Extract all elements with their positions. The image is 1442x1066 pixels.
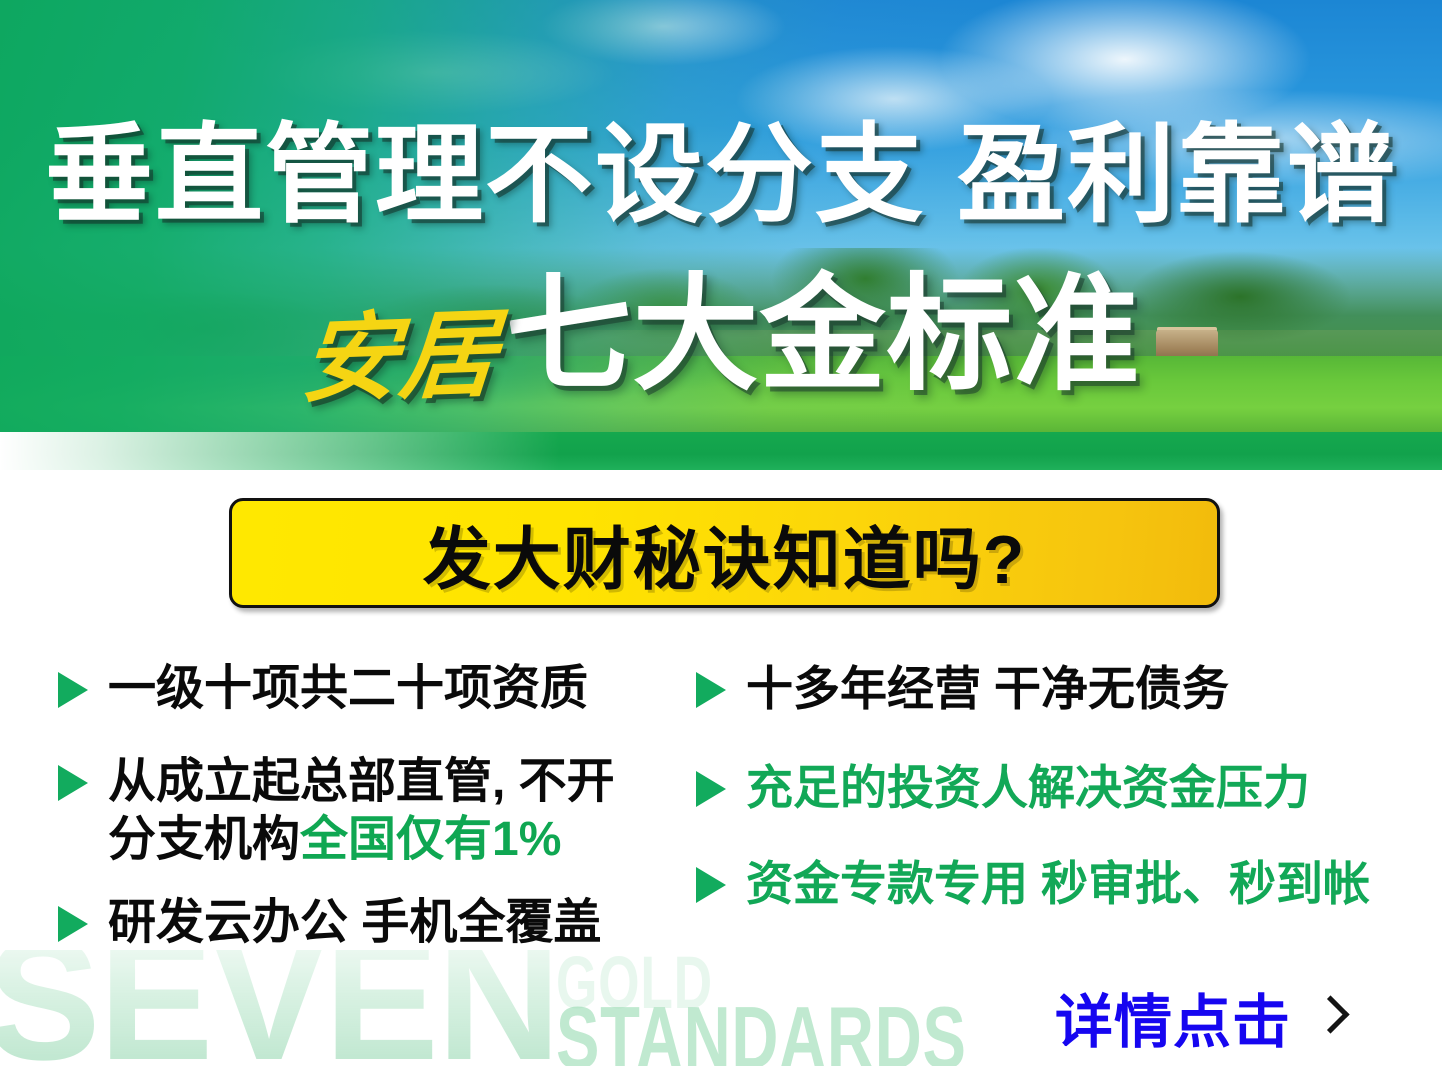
advertisement-banner: 垂直管理不设分支 盈利靠谱 安居七大金标准 发大财秘诀知道吗? 一级十项共二十项… — [0, 0, 1442, 1066]
feature-text-right-1: 十多年经营 干净无债务 — [746, 660, 1229, 717]
watermark-standards: STANDARDS — [556, 994, 967, 1066]
feature-item-left-3: 研发云办公 手机全覆盖 — [58, 894, 698, 953]
feature-text-left-2-line2: 分支机构全国仅有1% — [108, 811, 615, 870]
feature-item-right-1: 十多年经营 干净无债务 — [696, 660, 1426, 717]
features-section: 一级十项共二十项资质 从成立起总部直管, 不开 分支机构全国仅有1% 研发云办公… — [0, 660, 1442, 980]
feature-text-left-1: 一级十项共二十项资质 — [108, 660, 588, 719]
features-right-column: 十多年经营 干净无债务 充足的投资人解决资金压力 资金专款专用 秒审批、秒到帐 — [696, 660, 1426, 938]
hero-headline-subtitle: 七大金标准 — [506, 272, 1141, 398]
highlight-question-banner[interactable]: 发大财秘诀知道吗? — [229, 498, 1220, 608]
feature-item-right-3: 资金专款专用 秒审批、秒到帐 — [696, 855, 1426, 912]
feature-item-left-2: 从成立起总部直管, 不开 分支机构全国仅有1% — [58, 753, 698, 870]
play-triangle-icon — [58, 906, 88, 942]
feature-text-left-2: 从成立起总部直管, 不开 分支机构全国仅有1% — [108, 753, 615, 870]
feature-item-left-1: 一级十项共二十项资质 — [58, 660, 698, 719]
hero-band-fade — [0, 432, 560, 470]
hero-headline-secondary-row: 安居七大金标准 — [0, 272, 1442, 406]
play-triangle-icon — [58, 672, 88, 708]
feature-text-left-2-prefix: 分支机构 — [108, 813, 300, 866]
feature-text-right-2: 充足的投资人解决资金压力 — [746, 759, 1310, 816]
play-triangle-icon — [696, 867, 726, 903]
features-left-column: 一级十项共二十项资质 从成立起总部直管, 不开 分支机构全国仅有1% 研发云办公… — [58, 660, 698, 978]
hero-headline-primary: 垂直管理不设分支 盈利靠谱 — [0, 118, 1442, 231]
feature-text-left-2-line1: 从成立起总部直管, 不开 — [108, 753, 615, 812]
details-cta-label: 详情点击 — [1055, 975, 1291, 1059]
play-triangle-icon — [696, 771, 726, 807]
highlight-question-text: 发大财秘诀知道吗? — [423, 504, 1027, 603]
details-cta-link[interactable]: 详情点击 — [1055, 975, 1343, 1059]
chevron-right-icon — [1313, 989, 1343, 1045]
feature-item-right-2: 充足的投资人解决资金压力 — [696, 759, 1426, 816]
hero-brand-name: 安居 — [298, 307, 501, 410]
play-triangle-icon — [58, 765, 88, 801]
feature-text-left-3: 研发云办公 手机全覆盖 — [108, 894, 601, 953]
hero-section: 垂直管理不设分支 盈利靠谱 安居七大金标准 — [0, 0, 1442, 470]
play-triangle-icon — [696, 672, 726, 708]
feature-text-left-2-highlight: 全国仅有1% — [300, 813, 561, 866]
feature-text-right-3: 资金专款专用 秒审批、秒到帐 — [746, 855, 1370, 912]
